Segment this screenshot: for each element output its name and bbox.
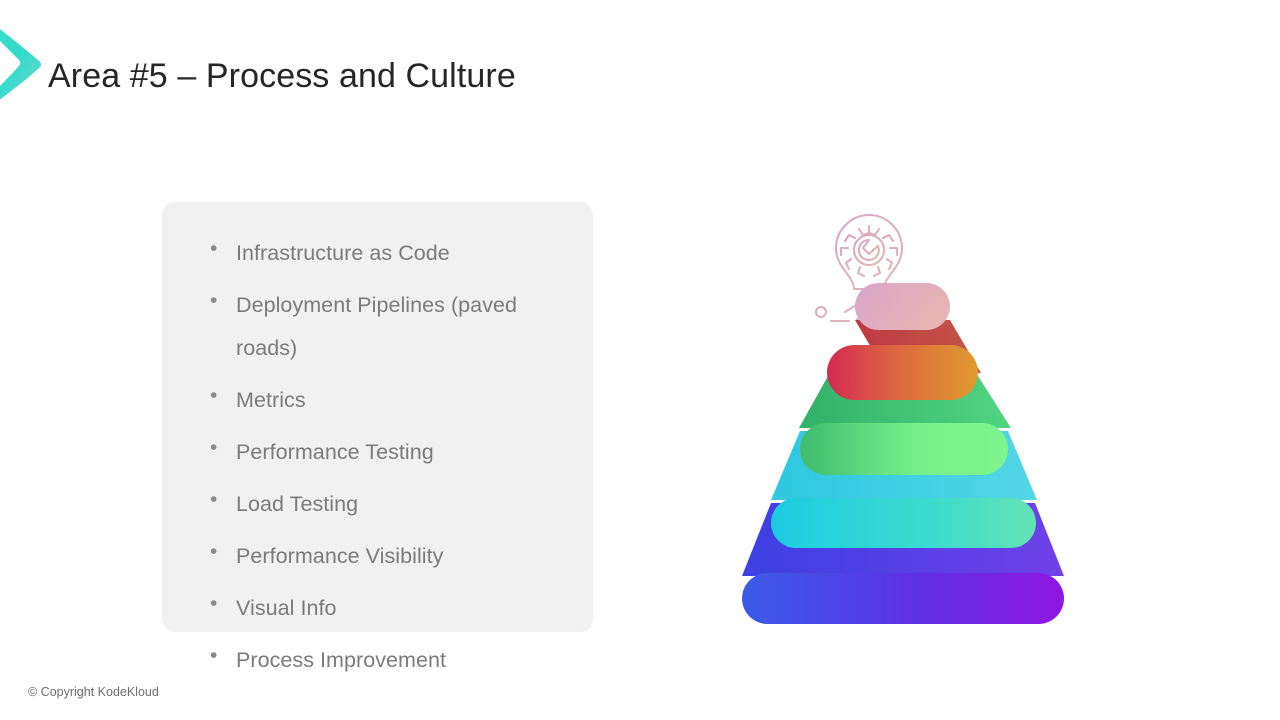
list-item-label: Deployment Pipelines (paved roads) — [236, 284, 571, 370]
bullet-marker-icon: • — [208, 431, 236, 465]
list-item: • Process Improvement — [208, 639, 571, 682]
list-item-label: Process Improvement — [236, 639, 571, 682]
page-title: Area #5 – Process and Culture — [48, 52, 516, 100]
bullet-panel: • Infrastructure as Code • Deployment Pi… — [162, 202, 593, 632]
pyramid-graphic — [735, 188, 1075, 633]
bullet-marker-icon: • — [208, 483, 236, 517]
layer-pink — [855, 283, 950, 330]
layer-orange — [827, 345, 978, 400]
list-item: • Infrastructure as Code — [208, 232, 571, 275]
list-item: • Metrics — [208, 379, 571, 422]
bullet-marker-icon: • — [208, 535, 236, 569]
copyright-notice: © Copyright KodeKloud — [28, 683, 159, 701]
list-item-label: Load Testing — [236, 483, 571, 526]
list-item: • Load Testing — [208, 483, 571, 526]
list-item: • Performance Visibility — [208, 535, 571, 578]
list-item-label: Performance Testing — [236, 431, 571, 474]
layer-green — [800, 423, 1008, 475]
slide-canvas: Area #5 – Process and Culture • Infrastr… — [0, 0, 1280, 720]
list-item-label: Visual Info — [236, 587, 571, 630]
list-item: • Performance Testing — [208, 431, 571, 474]
bullet-marker-icon: • — [208, 639, 236, 673]
list-item-label: Performance Visibility — [236, 535, 571, 578]
chevron-right-icon — [0, 4, 52, 120]
bullet-marker-icon: • — [208, 379, 236, 413]
layer-cyan — [771, 498, 1036, 548]
bullet-marker-icon: • — [208, 232, 236, 266]
list-item: • Visual Info — [208, 587, 571, 630]
bullet-marker-icon: • — [208, 284, 236, 318]
list-item-label: Metrics — [236, 379, 571, 422]
bullet-marker-icon: • — [208, 587, 236, 621]
list-item: • Deployment Pipelines (paved roads) — [208, 284, 571, 370]
bullet-list: • Infrastructure as Code • Deployment Pi… — [208, 232, 571, 682]
layer-purple — [742, 573, 1064, 624]
list-item-label: Infrastructure as Code — [236, 232, 571, 275]
